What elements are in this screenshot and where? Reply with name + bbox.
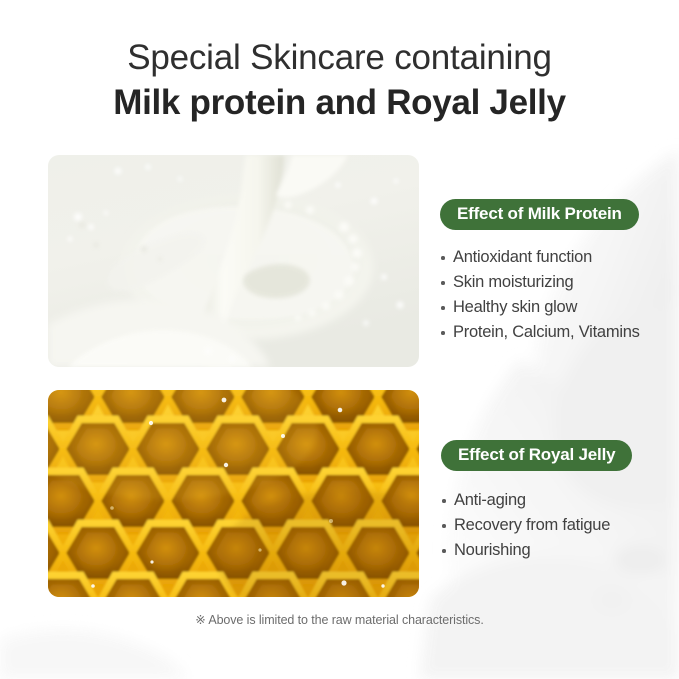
promo-page: Special Skincare containing Milk protein… <box>0 0 679 679</box>
disclaimer-note: ※ Above is limited to the raw material c… <box>0 612 679 627</box>
badge-milk-protein: Effect of Milk Protein <box>440 199 639 230</box>
list-item: Anti-aging <box>441 488 632 513</box>
list-item: Recovery from fatigue <box>441 513 632 538</box>
royal-jelly-benefit-list: Anti-aging Recovery from fatigue Nourish… <box>441 488 632 563</box>
milk-protein-benefit-list: Antioxidant function Skin moisturizing H… <box>440 245 640 345</box>
title-line-2: Milk protein and Royal Jelly <box>0 80 679 126</box>
honeycomb-photo <box>48 390 419 597</box>
title-line-1: Special Skincare containing <box>0 36 679 80</box>
royal-jelly-section: Effect of Royal Jelly Anti-aging Recover… <box>441 440 632 563</box>
milk-pour-photo <box>48 155 419 367</box>
list-item: Antioxidant function <box>440 245 640 270</box>
page-title: Special Skincare containing Milk protein… <box>0 36 679 126</box>
list-item: Protein, Calcium, Vitamins <box>440 320 640 345</box>
list-item: Healthy skin glow <box>440 295 640 320</box>
badge-royal-jelly: Effect of Royal Jelly <box>441 440 632 471</box>
list-item: Nourishing <box>441 538 632 563</box>
milk-protein-section: Effect of Milk Protein Antioxidant funct… <box>440 199 640 345</box>
list-item: Skin moisturizing <box>440 270 640 295</box>
